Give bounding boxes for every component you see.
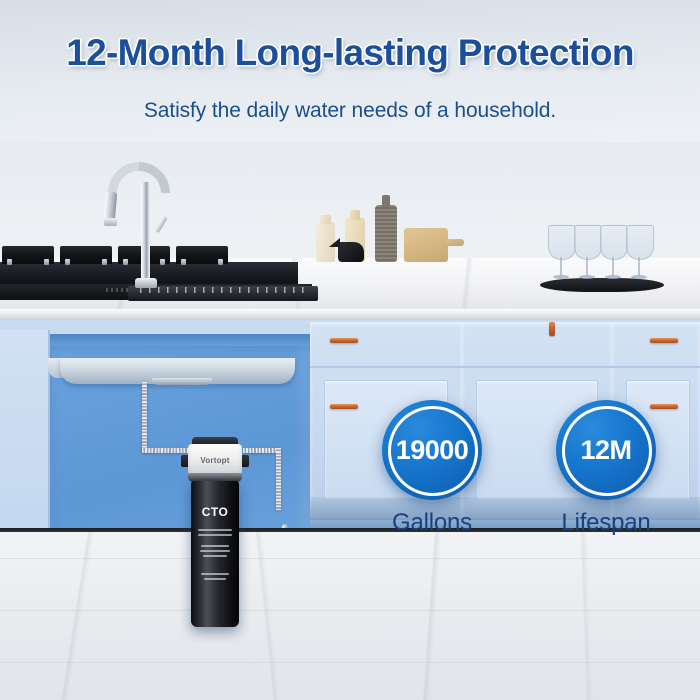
pull-down-faucet [100, 160, 162, 290]
filter-fineprint-line [198, 529, 232, 531]
wine-glass [626, 225, 652, 281]
braided-hose-horizontal [142, 448, 190, 453]
counter-edge [0, 309, 700, 320]
badge-value: 19000 [382, 400, 482, 500]
drawer-seam [310, 366, 462, 368]
glass-bowl [600, 225, 628, 260]
glass-stem [612, 257, 614, 276]
glass-bowl [548, 225, 576, 260]
faucet-aerator [104, 218, 117, 226]
cabinet-handle-icon [330, 404, 358, 409]
sink-drain [152, 378, 212, 385]
glass-foot [579, 275, 595, 279]
burner-grate [176, 246, 228, 264]
filter-brand-label: Vortopt [188, 456, 242, 465]
cutaway-top-wall [36, 334, 310, 346]
filter-fineprint-line [200, 550, 230, 552]
badge-circle: 12M [556, 400, 656, 500]
glass-stem [560, 257, 562, 276]
faucet-column [141, 182, 150, 287]
filter-model-label: CTO [191, 505, 239, 519]
glass-stem [586, 257, 588, 276]
filter-fineprint-line [198, 534, 232, 536]
glass-foot [605, 275, 621, 279]
stat-badge-lifespan: 12M Lifespan [556, 400, 656, 537]
filter-fineprint-line [201, 545, 229, 547]
badge-label: Lifespan [556, 509, 656, 537]
stat-badge-gallons: 19000 Gallons [382, 400, 482, 537]
faucet-base [135, 278, 157, 288]
wine-glass [600, 225, 626, 281]
wine-glass [548, 225, 574, 281]
striped-vase [375, 205, 397, 262]
filter-fineprint-line [203, 555, 227, 557]
cabinet-handle-icon [549, 322, 555, 336]
water-filter-unit: Vortopt CTO [185, 437, 245, 627]
sink-grid [140, 287, 306, 293]
filter-fineprint-line [201, 573, 229, 575]
glass-foot [553, 275, 569, 279]
filter-fineprint-line [204, 578, 226, 580]
product-marketing-image: Vortopt CTO 12-Month Long-lasting Protec… [0, 0, 700, 700]
wine-glass [574, 225, 600, 281]
cutting-board [404, 228, 448, 262]
glass-stem [638, 257, 640, 276]
drawer-seam [462, 366, 612, 368]
black-vessel [338, 242, 364, 262]
header-band: 12-Month Long-lasting Protection Satisfy… [0, 0, 700, 142]
badge-value: 12M [556, 400, 656, 500]
cabinet-handle-icon [650, 338, 678, 343]
drawer-seam [612, 366, 700, 368]
glass-bowl [626, 225, 654, 260]
braided-hose-down [276, 448, 281, 510]
page-subtitle: Satisfy the daily water needs of a house… [0, 99, 700, 123]
glass-bowl [574, 225, 602, 260]
cabinet-handle-icon [330, 338, 358, 343]
burner-grate [2, 246, 54, 264]
badge-label: Gallons [382, 509, 482, 537]
glass-foot [631, 275, 647, 279]
floor-marble-veining [0, 532, 700, 700]
filter-housing-body [191, 481, 239, 627]
badge-circle: 19000 [382, 400, 482, 500]
page-title: 12-Month Long-lasting Protection [0, 32, 700, 74]
braided-hose-vertical [142, 382, 147, 452]
